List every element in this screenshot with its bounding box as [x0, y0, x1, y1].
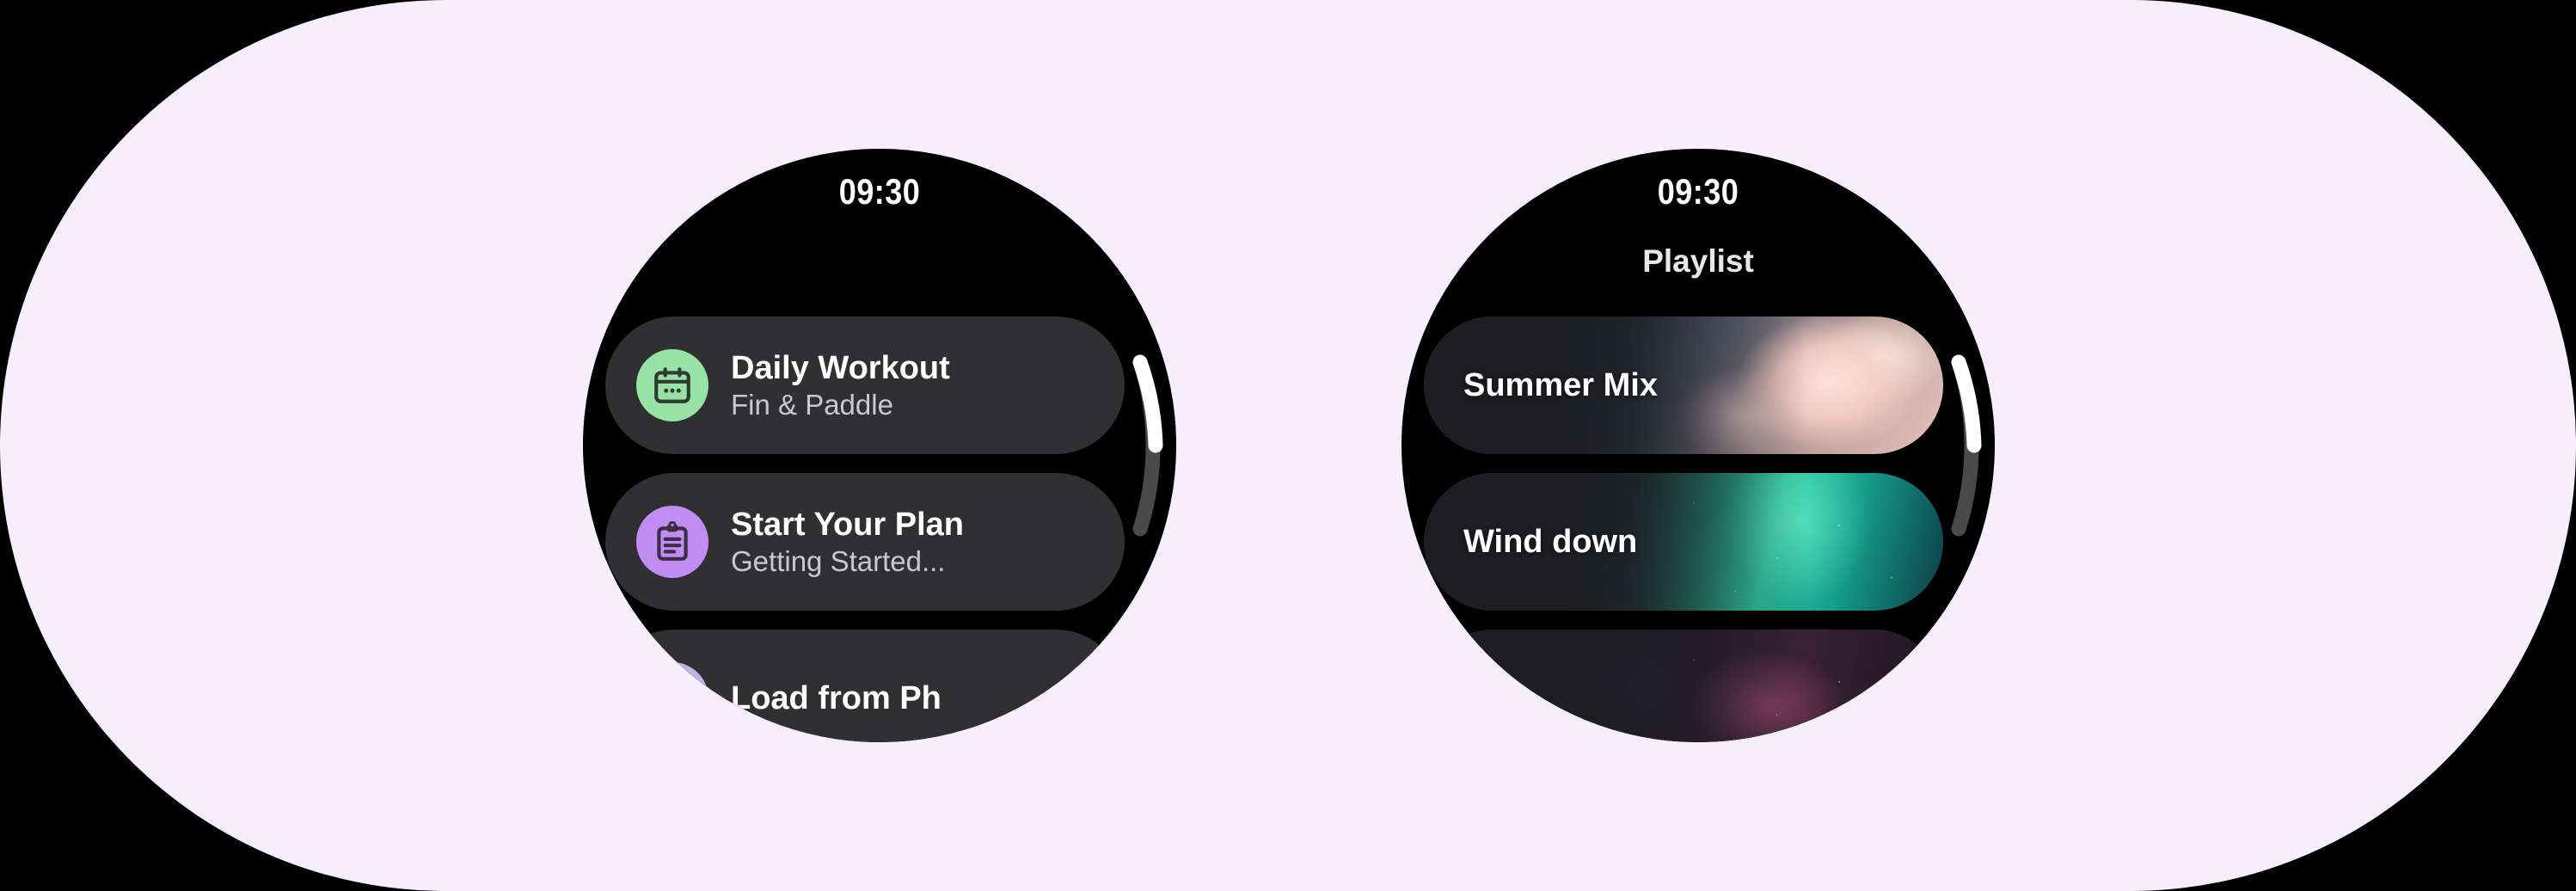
list-item-text: Load from Ph [731, 679, 941, 718]
smartwatch-notifications: 09:30 [583, 149, 1176, 742]
calendar-icon [636, 349, 708, 421]
phone-icon [636, 662, 708, 734]
watch-screen-playlist: 09:30 Playlist Summer Mix Wind down [1401, 149, 1995, 742]
smartwatch-playlist: 09:30 Playlist Summer Mix Wind down [1401, 149, 1995, 742]
list-item[interactable]: Summer Mix [1424, 316, 1943, 454]
list-item-title: Start Your Plan [731, 506, 964, 544]
playlist-card-list[interactable]: Summer Mix Wind down [1401, 149, 1995, 742]
list-item-title: Load from Ph [731, 679, 941, 718]
list-item[interactable] [1424, 630, 1943, 742]
watch-screen-notifications: 09:30 [583, 149, 1176, 742]
list-item[interactable]: Wind down [1424, 473, 1943, 611]
list-item[interactable]: Load from Ph [605, 630, 1125, 742]
list-item-title: Daily Workout [731, 349, 950, 388]
list-item-title: Summer Mix [1424, 367, 1658, 404]
list-item-text: Daily Workout Fin & Paddle [731, 349, 950, 421]
list-item-subtitle: Fin & Paddle [731, 388, 950, 422]
notification-card-list[interactable]: Daily Workout Fin & Paddle [583, 149, 1176, 742]
artwork-scrim [1424, 630, 1943, 742]
list-item-text: Start Your Plan Getting Started... [731, 506, 964, 578]
lavender-backdrop: 09:30 [0, 0, 2576, 891]
list-item[interactable]: Daily Workout Fin & Paddle [605, 316, 1125, 454]
list-item[interactable]: Start Your Plan Getting Started... [605, 473, 1125, 611]
clipboard-icon [636, 506, 708, 578]
list-item-title: Wind down [1424, 524, 1637, 561]
list-item-subtitle: Getting Started... [731, 544, 964, 579]
